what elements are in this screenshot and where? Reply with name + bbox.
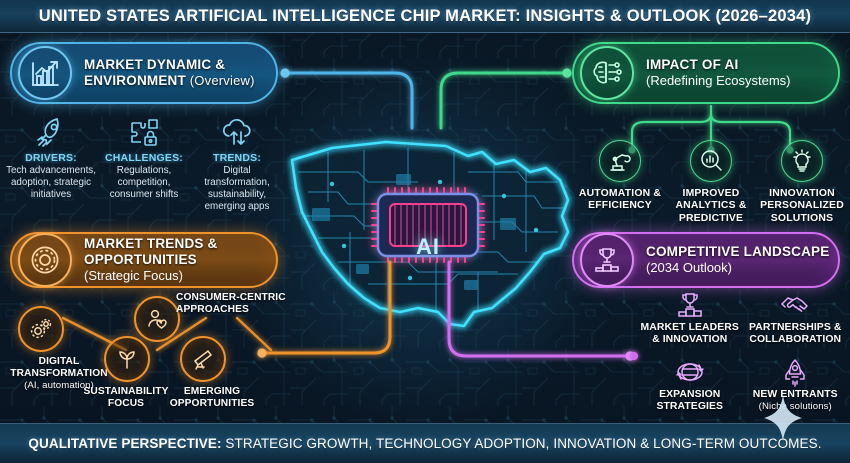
node-consumer-centric[interactable]	[134, 296, 180, 342]
item-trends[interactable]: TRENDS: Digital transformation, sustaina…	[192, 112, 282, 214]
node-emerging-label: EMERGING OPPORTUNITIES	[152, 386, 272, 410]
market-trends-nodes: DIGITAL TRANSFORMATION (AI, automation) …	[0, 288, 290, 414]
item-innovation-solutions[interactable]: INNOVATION PERSONALIZED SOLUTIONS	[760, 140, 844, 225]
panel-market-dynamic-text: MARKET DYNAMIC & ENVIRONMENT (Overview)	[84, 57, 255, 89]
item-partnerships-label: PARTNERSHIPS & COLLABORATION	[746, 322, 846, 347]
panel-market-trends[interactable]: MARKET TRENDS & OPPORTUNITIES (Strategic…	[10, 232, 278, 288]
panel-competitive-landscape[interactable]: COMPETITIVE LANDSCAPE (2034 Outlook)	[572, 232, 840, 288]
panel-competitive-text: COMPETITIVE LANDSCAPE (2034 Outlook)	[646, 244, 829, 275]
sub-new-entrants: (Niche solutions)	[759, 401, 832, 412]
handshake-icon	[746, 288, 846, 322]
label-new-entrants: NEW ENTRANTS	[753, 389, 838, 400]
page-title: UNITED STATES ARTIFICIAL INTELLIGENCE CH…	[39, 7, 812, 26]
item-automation-label: AUTOMATION & EFFICIENCY	[578, 188, 662, 213]
puzzle-lock-icon	[99, 112, 189, 152]
panel-dynamic-line2: ENVIRONMENT	[84, 73, 186, 88]
item-drivers-desc: Tech advancements, adoption, strategic i…	[6, 165, 96, 201]
panel-competitive-line2: (2034 Outlook)	[646, 260, 829, 275]
us-map-container: AI	[268, 112, 588, 382]
item-analytics-label: IMPROVED ANALYTICS & PREDICTIVE	[669, 188, 753, 225]
footer-text: QUALITATIVE PERSPECTIVE: STRATEGIC GROWT…	[28, 436, 821, 451]
item-drivers[interactable]: DRIVERS: Tech advancements, adoption, st…	[6, 112, 96, 214]
item-drivers-title: DRIVERS:	[6, 152, 96, 164]
panel-dynamic-subtitle: (Overview)	[186, 73, 255, 88]
item-automation-efficiency[interactable]: AUTOMATION & EFFICIENCY	[578, 140, 662, 225]
gear-icon	[18, 233, 72, 287]
item-challenges-title: CHALLENGES:	[99, 152, 189, 164]
node-emerging-opportunities[interactable]	[180, 336, 226, 382]
item-trends-desc: Digital transformation, sustainability, …	[192, 165, 282, 214]
trophy-podium-icon	[580, 233, 634, 287]
trophy-podium-icon	[640, 288, 740, 322]
infographic-title-bar: UNITED STATES ARTIFICIAL INTELLIGENCE CH…	[0, 0, 850, 33]
competitive-landscape-items: MARKET LEADERS & INNOVATION PARTNERSHIPS…	[640, 288, 845, 416]
item-expansion-strategies[interactable]: EXPANSION STRATEGIES	[640, 355, 740, 416]
bar-chart-growth-icon	[18, 46, 72, 100]
item-new-entrants-label: NEW ENTRANTS (Niche solutions)	[746, 389, 846, 414]
brain-circuit-icon	[580, 46, 634, 100]
footer-lead: QUALITATIVE PERSPECTIVE:	[28, 436, 221, 451]
item-expansion-label: EXPANSION STRATEGIES	[640, 389, 740, 414]
label-emerging-opportunities: EMERGING OPPORTUNITIES	[170, 386, 255, 409]
panel-impact-line2: (Redefining Ecosystems)	[646, 73, 791, 88]
market-dynamic-items: DRIVERS: Tech advancements, adoption, st…	[6, 112, 282, 214]
rocket-icon	[6, 112, 96, 152]
robot-arm-icon	[599, 140, 641, 182]
analytics-magnifier-icon	[690, 140, 732, 182]
item-challenges-desc: Regulations, competition, consumer shift…	[99, 165, 189, 201]
item-partnerships[interactable]: PARTNERSHIPS & COLLABORATION	[746, 288, 846, 349]
panel-impact-text: IMPACT OF AI (Redefining Ecosystems)	[646, 57, 791, 88]
panel-impact-line1: IMPACT OF AI	[646, 57, 791, 73]
label-digital-transformation: DIGITAL TRANSFORMATION	[10, 356, 107, 379]
globe-arrows-icon	[640, 355, 740, 389]
node-consumer-centric-label: CONSUMER-CENTRIC APPROACHES	[176, 292, 288, 316]
ai-chip-icon	[372, 188, 484, 262]
item-challenges[interactable]: CHALLENGES: Regulations, competition, co…	[99, 112, 189, 214]
footer-body: STRATEGIC GROWTH, TECHNOLOGY ADOPTION, I…	[222, 436, 822, 451]
us-map-circuit-icon	[268, 112, 588, 382]
item-market-leaders[interactable]: MARKET LEADERS & INNOVATION	[640, 288, 740, 349]
item-market-leaders-label: MARKET LEADERS & INNOVATION	[640, 322, 740, 347]
cloud-sync-icon	[192, 112, 282, 152]
rocket-icon	[746, 355, 846, 389]
item-innovation-label: INNOVATION PERSONALIZED SOLUTIONS	[760, 188, 844, 225]
node-digital-transformation[interactable]	[18, 306, 64, 352]
footer-bar: QUALITATIVE PERSPECTIVE: STRATEGIC GROWT…	[0, 423, 850, 463]
node-sustainability-focus[interactable]	[104, 336, 150, 382]
panel-competitive-line1: COMPETITIVE LANDSCAPE	[646, 244, 829, 260]
panel-market-dynamic[interactable]: MARKET DYNAMIC & ENVIRONMENT (Overview)	[10, 42, 278, 104]
item-trends-title: TRENDS:	[192, 152, 282, 164]
item-improved-analytics[interactable]: IMPROVED ANALYTICS & PREDICTIVE	[669, 140, 753, 225]
panel-trends-text: MARKET TRENDS & OPPORTUNITIES (Strategic…	[84, 236, 276, 283]
panel-trends-line1: MARKET TRENDS & OPPORTUNITIES	[84, 236, 276, 268]
impact-of-ai-items: AUTOMATION & EFFICIENCY IMPROVED ANALYTI…	[578, 140, 844, 225]
panel-impact-of-ai[interactable]: IMPACT OF AI (Redefining Ecosystems)	[572, 42, 840, 104]
lightbulb-icon	[781, 140, 823, 182]
panel-dynamic-line1: MARKET DYNAMIC &	[84, 57, 255, 73]
panel-trends-line2: (Strategic Focus)	[84, 268, 276, 283]
label-consumer-centric: CONSUMER-CENTRIC APPROACHES	[176, 292, 286, 315]
item-new-entrants[interactable]: NEW ENTRANTS (Niche solutions)	[746, 355, 846, 416]
